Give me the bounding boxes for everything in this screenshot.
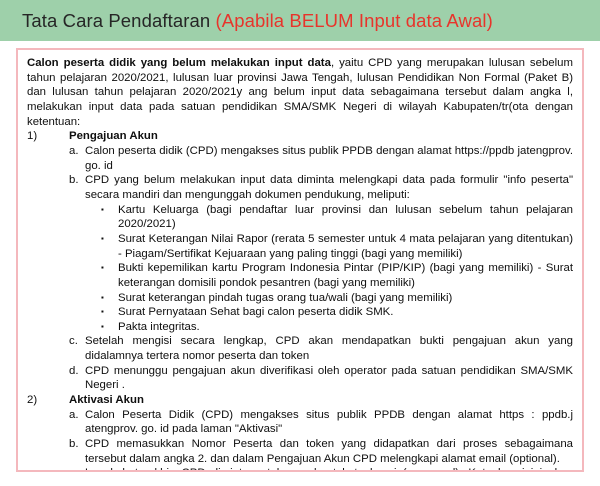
document-body: Calon peserta didik yang belum melakukan… (27, 56, 573, 472)
list-marker: b. (69, 173, 85, 188)
section-heading-2: 2) Aktivasi Akun (27, 393, 573, 408)
list-text: CPD yang belum melakukan input data dimi… (85, 173, 573, 202)
page-title-main: Tata Cara Pendaftaran (22, 10, 216, 31)
intro-paragraph: Calon peserta didik yang belum melakukan… (27, 56, 573, 129)
square-bullet-icon: ▪ (101, 305, 118, 320)
section-marker-1: 1) (27, 129, 69, 144)
bullet-text: Surat Keterangan Nilai Rapor (rerata 5 s… (118, 232, 573, 261)
slide-root: Tata Cara Pendaftaran (Apabila BELUM Inp… (0, 0, 600, 486)
list-marker: c. (69, 466, 85, 472)
bullet-text: Bukti kepemilikan kartu Program Indonesi… (118, 261, 573, 290)
header-band: Tata Cara Pendaftaran (Apabila BELUM Inp… (0, 0, 600, 41)
list-marker: d. (69, 364, 85, 379)
bullet-item: ▪ Surat Pernyataan Sehat bagi calon pese… (101, 305, 573, 320)
section-marker-2: 2) (27, 393, 69, 408)
section-1-list: a. Calon peserta didik (CPD) mengakses s… (27, 144, 573, 393)
square-bullet-icon: ▪ (101, 203, 118, 218)
document-bullet-list: ▪ Kartu Keluarga (bagi pendaftar luar pr… (69, 203, 573, 335)
list-text: CPD menunggu pengajuan akun diverifikasi… (85, 364, 573, 393)
list-marker: c. (69, 334, 85, 349)
list-item: c. Langkah terakhir, CPD diminta untuk m… (69, 466, 573, 472)
list-item: d. CPD menunggu pengajuan akun diverifik… (69, 364, 573, 393)
bullet-text: Pakta integritas. (118, 320, 573, 335)
bullet-item: ▪ Surat Keterangan Nilai Rapor (rerata 5… (101, 232, 573, 261)
content-box: Calon peserta didik yang belum melakukan… (16, 48, 584, 472)
list-item: b. CPD yang belum melakukan input data d… (69, 173, 573, 202)
list-text: Setelah mengisi secara lengkap, CPD akan… (85, 334, 573, 363)
list-marker: a. (69, 144, 85, 159)
bullet-text: Surat keterangan pindah tugas orang tua/… (118, 291, 573, 306)
section-title-2: Aktivasi Akun (69, 393, 573, 408)
bullet-item: ▪ Kartu Keluarga (bagi pendaftar luar pr… (101, 203, 573, 232)
list-text: Langkah terakhir, CPD diminta untuk memb… (85, 466, 573, 472)
list-text: Calon peserta didik (CPD) mengakses situ… (85, 144, 573, 173)
bullet-item: ▪ Bukti kepemilikan kartu Program Indone… (101, 261, 573, 290)
square-bullet-icon: ▪ (101, 261, 118, 276)
list-marker: a. (69, 408, 85, 423)
bullet-item: ▪ Pakta integritas. (101, 320, 573, 335)
bullet-text: Kartu Keluarga (bagi pendaftar luar prov… (118, 203, 573, 232)
page-title-accent: (Apabila BELUM Input data Awal) (216, 10, 493, 31)
square-bullet-icon: ▪ (101, 320, 118, 335)
list-item: b. CPD memasukkan Nomor Peserta dan toke… (69, 437, 573, 466)
section-heading-1: 1) Pengajuan Akun (27, 129, 573, 144)
list-text: Calon Peserta Didik (CPD) mengakses situ… (85, 408, 573, 437)
square-bullet-icon: ▪ (101, 232, 118, 247)
intro-lead: Calon peserta didik yang belum melakukan… (27, 57, 331, 69)
list-item: c. Setelah mengisi secara lengkap, CPD a… (69, 334, 573, 363)
page-title: Tata Cara Pendaftaran (Apabila BELUM Inp… (22, 11, 493, 31)
bullet-item: ▪ Surat keterangan pindah tugas orang tu… (101, 291, 573, 306)
square-bullet-icon: ▪ (101, 291, 118, 306)
bullet-text: Surat Pernyataan Sehat bagi calon pesert… (118, 305, 573, 320)
list-marker: b. (69, 437, 85, 452)
section-2-list: a. Calon Peserta Didik (CPD) mengakses s… (27, 408, 573, 472)
list-item: a. Calon peserta didik (CPD) mengakses s… (69, 144, 573, 173)
list-text: CPD memasukkan Nomor Peserta dan token y… (85, 437, 573, 466)
section-title-1: Pengajuan Akun (69, 129, 573, 144)
list-item: a. Calon Peserta Didik (CPD) mengakses s… (69, 408, 573, 437)
